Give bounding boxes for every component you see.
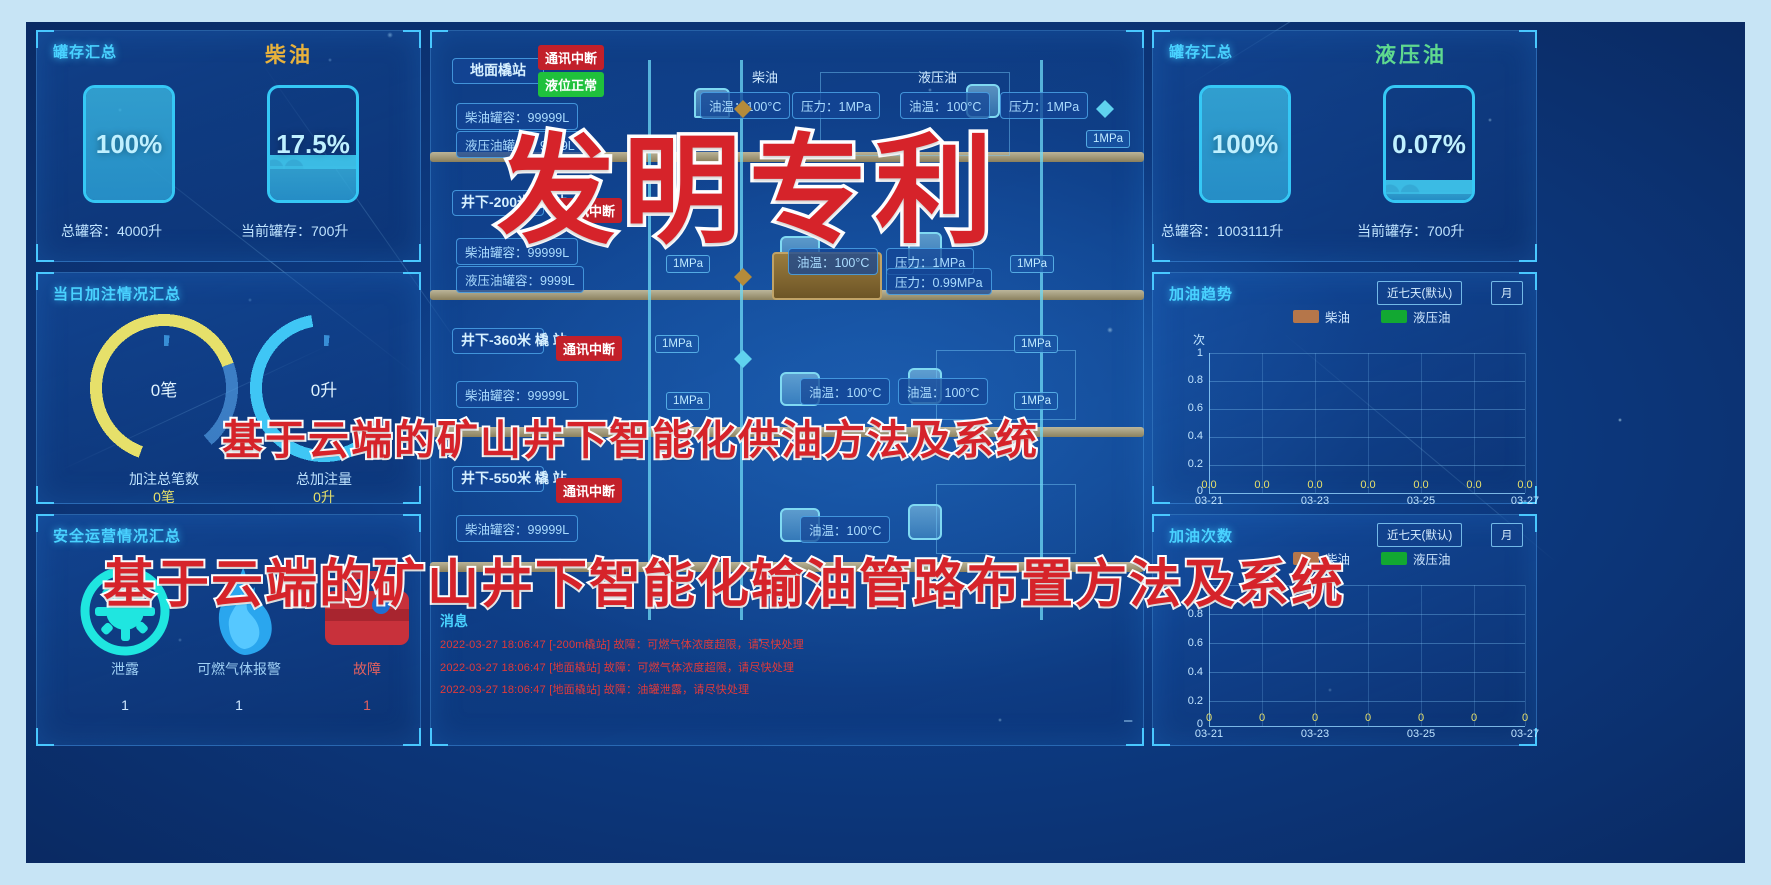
x-tick: 03-25 [1398,728,1444,740]
y-tick: 0.8 [1175,374,1203,386]
fuel-name-hydraulic: 液压油 [1375,39,1447,69]
x-tick: 03-23 [1292,728,1338,740]
x-axis [1209,726,1525,727]
station-name-0[interactable]: 地面橇站 [452,58,544,84]
range-select-month[interactable]: 月 [1491,281,1523,305]
panel-title: 加油趋势 [1169,283,1233,304]
panel-today-refuel-summary: 当日加注情况汇总 0笔 加注总笔数 0笔 0升 总加注量 0升 [36,272,421,504]
vgridline [1368,353,1369,493]
dashboard-root: 罐存汇总 柴油 100% 总罐容：4000升 17.5% 当前罐存：700升 当… [0,0,1771,885]
data-label: 0.0 [1502,479,1548,491]
panel-title: 罐存汇总 [53,41,117,62]
data-label: 0.0 [1239,479,1285,491]
sensor-chip-oil-temp: 油温：100°C [898,378,988,405]
tank-total-percent: 100% [1202,88,1288,200]
range-select-week[interactable]: 近七天(默认) [1377,523,1462,547]
legend-label-hydraulic: 液压油 [1413,307,1451,326]
data-label: 0 [1186,712,1232,724]
watermark-title-supply: 基于云端的矿山井下智能化供油方法及系统 [222,406,1039,466]
count-label: 加注总笔数 [74,469,254,489]
x-tick: 03-23 [1292,495,1338,507]
y-tick: 0.2 [1175,458,1203,470]
header-unit-label-0: 柴油 [744,64,786,89]
gridline [1209,643,1525,644]
safety-label-gas: 可燃气体报警 [179,659,299,679]
vgridline [1262,353,1263,493]
station-tag-level-0: 液位正常 [538,72,604,97]
gauge-refuel-count: 0笔 [89,313,239,463]
station-tag-comm-0: 通讯中断 [538,45,604,70]
legend-swatch-diesel [1293,310,1319,323]
data-label: 0.0 [1398,479,1444,491]
legend-hydraulic[interactable]: 液压油 [1381,549,1451,568]
frame-border-right [1745,0,1771,885]
legend-diesel[interactable]: 柴油 [1293,307,1350,326]
x-tick: 03-27 [1502,495,1548,507]
tank-current-stock: 0.07% [1383,85,1475,203]
pressure-tag: 1MPa [1086,130,1130,148]
panel-stock-summary-hydraulic: 罐存汇总 液压油 100% 总罐容：1003111升 0.07% 当前罐存：70… [1152,30,1537,262]
data-label: 0 [1502,712,1548,724]
tank-current-percent: 17.5% [270,88,356,200]
legend-swatch-hydraulic [1381,552,1407,565]
data-label: 0 [1398,712,1444,724]
y-tick: 0.4 [1175,666,1203,678]
gridline [1209,672,1525,673]
tank-total-capacity: 100% [1199,85,1291,203]
header-unit-label-1: 液压油 [910,64,965,89]
gridline [1209,701,1525,702]
x-tick: 03-25 [1398,495,1444,507]
sensor-chip-oil-temp: 油温：100°C [800,378,890,405]
vgridline [1421,585,1422,726]
safety-value-gas: 1 [179,697,299,713]
tank-current-percent: 0.07% [1386,88,1472,200]
data-label: 0.0 [1451,479,1497,491]
data-label: 0 [1239,712,1285,724]
y-axis-unit: 次 [1193,331,1205,348]
vgridline [1315,353,1316,493]
message-row: 2022-03-27 18:06:47 [地面橇站] 故障：可燃气体浓度超限，请… [440,659,794,675]
safety-label-leak: 泄露 [65,659,185,679]
panel-stock-summary-diesel: 罐存汇总 柴油 100% 总罐容：4000升 17.5% 当前罐存：700升 [36,30,421,262]
vgridline [1474,585,1475,726]
current-stock-text: 当前罐存：700升 [1357,221,1464,241]
watermark-patent: 发明专利 [497,95,1001,266]
y-tick: 0.4 [1175,430,1203,442]
panel-refuel-trend: 加油趋势 近七天(默认) 月 柴油 液压油 次 1 0.8 0.6 0.4 0.… [1152,272,1537,504]
x-tick: 03-21 [1186,495,1232,507]
total-capacity-text: 总罐容：1003111升 [1161,221,1283,241]
volume-label: 总加注量 [234,469,414,489]
range-select-week[interactable]: 近七天(默认) [1377,281,1462,305]
tank-total-capacity: 100% [83,85,175,203]
data-label: 0 [1292,712,1338,724]
vgridline [1474,353,1475,493]
frame-border-top [0,0,1771,22]
y-tick: 0.6 [1175,402,1203,414]
pressure-tag: 1MPa [1014,335,1058,353]
gridline [1209,409,1525,410]
panel-title: 罐存汇总 [1169,41,1233,62]
y-tick: 0.6 [1175,637,1203,649]
vgridline [1209,353,1210,493]
sensor-chip-pressure-low: 压力：0.99MPa [886,268,992,295]
gridline [1209,437,1525,438]
tank-current-stock: 17.5% [267,85,359,203]
current-stock-text: 当前罐存：700升 [241,221,348,241]
vgridline [1421,353,1422,493]
safety-value-leak: 1 [65,697,185,713]
data-label: 0 [1345,712,1391,724]
y-tick: 1 [1175,347,1203,359]
frame-border-bottom [0,863,1771,885]
gridline [1209,465,1525,466]
data-label: 0.0 [1292,479,1338,491]
pressure-tag: 1MPa [655,335,699,353]
data-label: 0.0 [1345,479,1391,491]
station-diesel-capacity-3: 柴油罐容：99999L [456,515,578,542]
vgridline [1525,353,1526,493]
vgridline [1368,585,1369,726]
message-row: 2022-03-27 18:06:47 [地面橇站] 故障：油罐泄露，请尽快处理 [440,681,749,697]
scroll-indicator[interactable]: – [1124,712,1132,729]
legend-swatch-hydraulic [1381,310,1407,323]
x-tick: 03-27 [1502,728,1548,740]
count-value: 0笔 [74,487,254,507]
sensor-chip-pressure: 压力：1MPa [1000,92,1088,119]
station-diesel-capacity-2: 柴油罐容：99999L [456,381,578,408]
frame-border-left [0,0,26,885]
legend-label-diesel: 柴油 [1325,307,1350,326]
message-row: 2022-03-27 18:06:47 [-200m橇站] 故障：可燃气体浓度超… [440,636,804,652]
station-name-3[interactable]: 井下-550米 橇 站 [452,466,544,492]
y-tick: 0.2 [1175,695,1203,707]
vgridline [1525,585,1526,726]
data-label: 0 [1451,712,1497,724]
watermark-title-pipeline: 基于云端的矿山井下智能化输油管路布置方法及系统 [103,542,1345,617]
legend-hydraulic[interactable]: 液压油 [1381,307,1451,326]
station-tag-comm-3: 通讯中断 [556,478,622,503]
gauge-count-value: 0笔 [89,313,239,463]
fuel-name-diesel: 柴油 [265,39,313,69]
station-tag-comm-2: 通讯中断 [556,336,622,361]
station-hydraulic-capacity-1: 液压油罐容：9999L [456,266,584,293]
data-label: 0.0 [1186,479,1232,491]
x-tick: 03-21 [1186,728,1232,740]
pressure-tag: 1MPa [1010,255,1054,273]
tank-total-percent: 100% [86,88,172,200]
range-select-month[interactable]: 月 [1491,523,1523,547]
gridline [1209,353,1525,354]
safety-value-fault: 1 [307,697,427,713]
x-axis [1209,493,1525,494]
gridline [1209,381,1525,382]
safety-label-fault: 故障 [307,659,427,679]
volume-value: 0升 [234,487,414,507]
legend-label-hydraulic: 液压油 [1413,549,1451,568]
sensor-chip-oil-temp: 油温：100°C [800,516,890,543]
panel-title: 当日加注情况汇总 [53,283,181,304]
total-capacity-text: 总罐容：4000升 [61,221,162,241]
station-name-2[interactable]: 井下-360米 橇 站 [452,328,544,354]
